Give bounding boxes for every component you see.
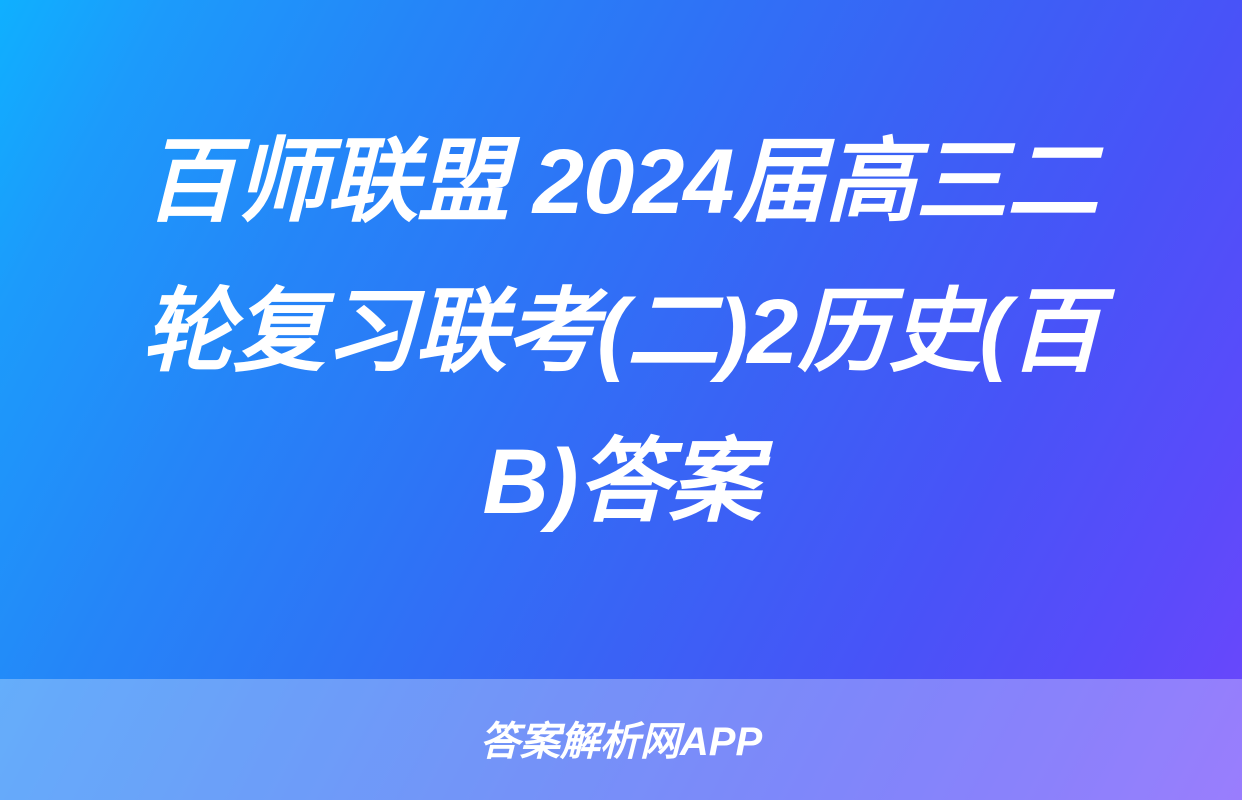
page-title-line: 百师联盟 2024届高三二 [66,107,1176,257]
app-watermark-label: 答案解析网APP [480,722,762,762]
page-title-line: 轮复习联考(二)2历史(百 [66,257,1176,407]
page-title-line: B)答案 [66,407,1176,557]
page-title: 百师联盟 2024届高三二轮复习联考(二)2历史(百B)答案 [66,107,1176,557]
footer-watermark-band: 答案解析网APP [0,679,1242,800]
poster-canvas: 百师联盟 2024届高三二轮复习联考(二)2历史(百B)答案 答案解析网APP [0,0,1242,800]
hero-title-area: 百师联盟 2024届高三二轮复习联考(二)2历史(百B)答案 [0,0,1242,679]
